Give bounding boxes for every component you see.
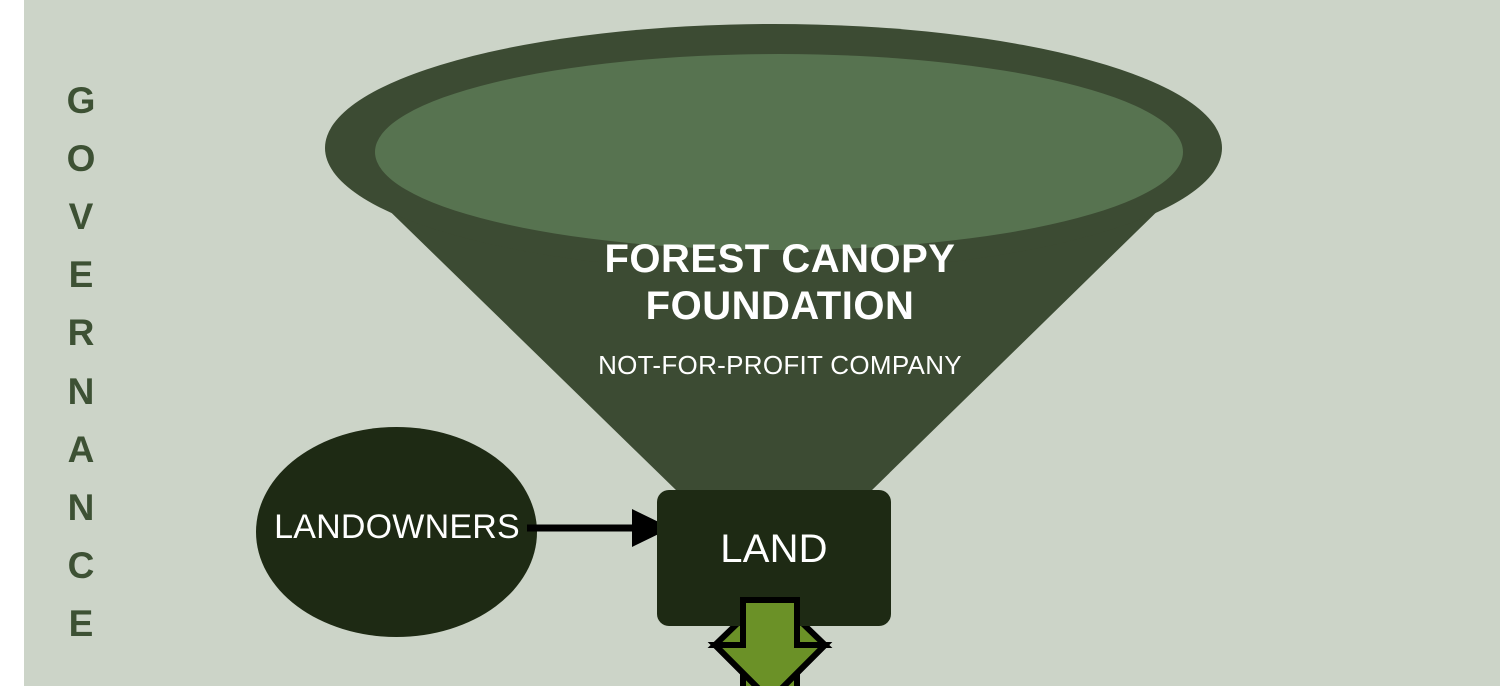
governance-letter: A [68,431,95,468]
funnel-shape[interactable] [325,24,1222,492]
diagram-canvas: G O V E R N A N C E FOREST CANOPY FOUNDA… [0,0,1500,686]
governance-letter: N [68,489,95,526]
governance-letter: O [67,140,96,177]
governance-letter: G [67,82,96,119]
funnel-rim-inner [375,54,1183,250]
arrow-landowners-to-land[interactable] [527,509,671,547]
governance-letter: V [69,198,94,235]
governance-letter: R [68,314,95,351]
diagram-graphics [0,0,1500,686]
governance-letter: C [68,547,95,584]
governance-letter: N [68,373,95,410]
node-landowners[interactable] [256,427,537,637]
governance-side-label: G O V E R N A N C E [52,82,110,642]
governance-letter: E [69,605,94,642]
governance-letter: E [69,256,94,293]
